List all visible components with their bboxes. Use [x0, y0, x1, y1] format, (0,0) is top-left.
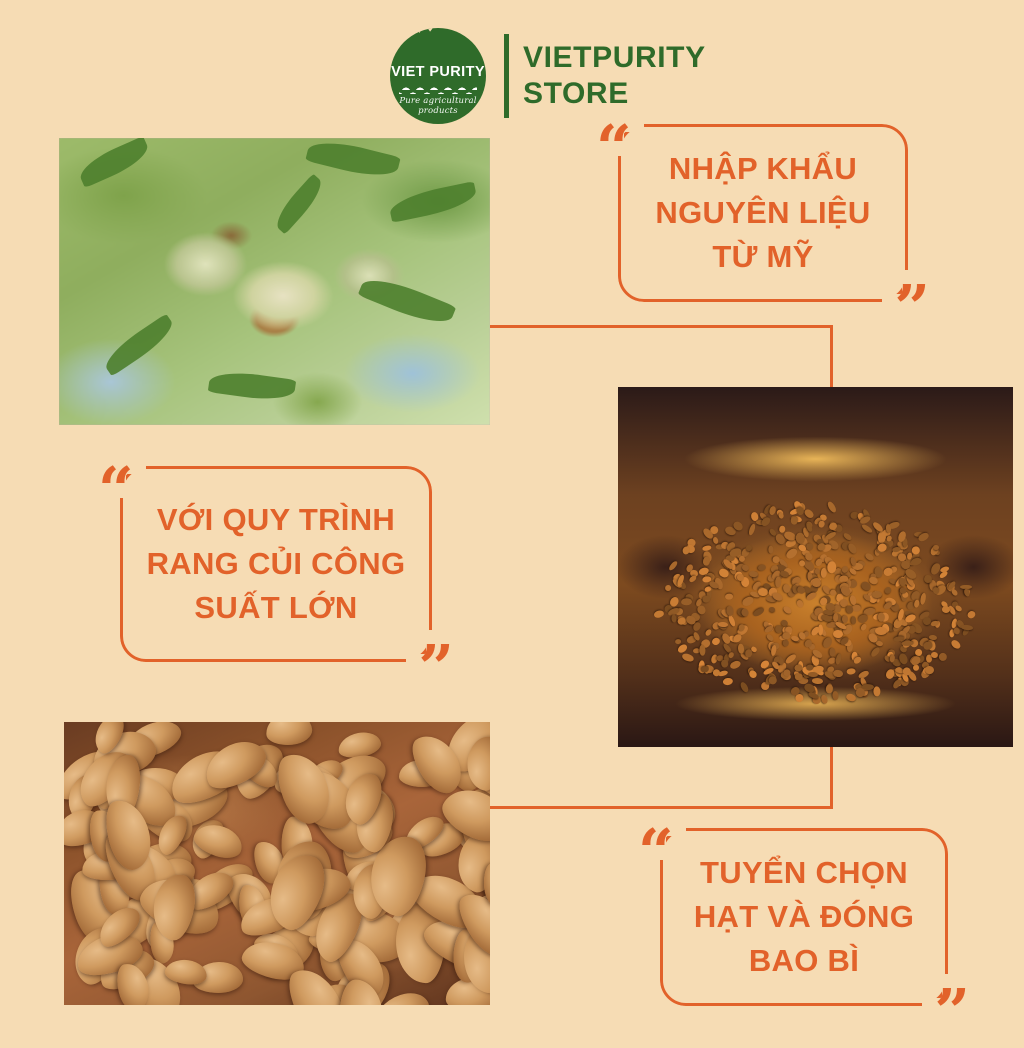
roasted-almond-speck	[768, 545, 773, 553]
logo-name: VIET PURITY	[390, 64, 486, 80]
roasted-almond-speck	[851, 616, 856, 624]
roasted-almond-speck	[791, 517, 798, 525]
roasted-almond-speck	[924, 574, 933, 583]
roasted-almond-speck	[961, 624, 973, 630]
logo-notch-icon	[394, 28, 438, 52]
roasted-almond-speck	[778, 512, 784, 519]
roasted-almond-speck	[899, 587, 907, 594]
roasted-almond-speck	[807, 672, 817, 677]
connector-orchard-to-roasting-v	[830, 325, 833, 389]
callout-text-import: NHẬP KHẨU NGUYÊN LIỆU TỪ MỸ	[618, 147, 908, 279]
roasted-almond-speck	[872, 591, 882, 598]
roasted-almond-speck	[775, 577, 781, 588]
roasted-almond-speck	[942, 606, 950, 613]
brand-divider	[504, 34, 509, 118]
roasted-almond-speck	[833, 629, 844, 638]
callout-import: “ ” NHẬP KHẨU NGUYÊN LIỆU TỪ MỸ	[618, 124, 908, 302]
photo-almonds-roasting-in-oven	[618, 387, 1013, 747]
callout-roasting: “ ” VỚI QUY TRÌNH RANG CỦI CÔNG SUẤT LỚN	[120, 466, 432, 662]
callout-text-packaging: TUYỂN CHỌN HẠT VÀ ĐÓNG BAO BÌ	[660, 851, 948, 983]
roasted-almond-speck	[721, 659, 728, 667]
roasted-almond-speck	[885, 524, 891, 534]
roasted-almond-speck	[681, 597, 692, 605]
photo-green-almonds-on-tree	[59, 138, 490, 425]
brand-line-2: STORE	[523, 78, 706, 110]
roasted-almond-speck	[924, 665, 934, 674]
roasted-almond-speck	[718, 621, 728, 626]
infographic-canvas: VIET PURITY Pure agricultural products V…	[0, 0, 1024, 1024]
vietpurity-logo: VIET PURITY Pure agricultural products	[390, 28, 486, 124]
connector-roasting-to-kernels-h	[489, 806, 833, 809]
logo-tagline: Pure agricultural products	[390, 96, 486, 116]
connector-orchard-to-roasting-h	[489, 325, 833, 328]
roasted-almond-speck	[861, 684, 873, 690]
roasted-almond-speck	[806, 543, 814, 550]
photo-shelled-almond-kernels	[64, 722, 490, 1005]
roasted-almond-speck	[778, 525, 785, 532]
logo-wave-icon	[399, 83, 477, 94]
brand-header: VIET PURITY Pure agricultural products V…	[390, 22, 720, 130]
roasted-almond-speck	[699, 645, 706, 656]
connector-roasting-to-kernels-v	[830, 745, 833, 809]
roasted-almond-speck	[829, 648, 836, 657]
roasted-almond-speck	[749, 570, 758, 577]
roasted-almond-speck	[922, 617, 931, 626]
callout-packaging: “ ” TUYỂN CHỌN HẠT VÀ ĐÓNG BAO BÌ	[660, 828, 948, 1006]
brand-line-1: VIETPURITY	[523, 42, 706, 74]
brand-wordmark: VIETPURITY STORE	[523, 42, 706, 111]
roasted-almond-speck	[930, 652, 938, 659]
roasted-almond-speck	[929, 634, 937, 640]
callout-text-roasting: VỚI QUY TRÌNH RANG CỦI CÔNG SUẤT LỚN	[120, 498, 432, 630]
